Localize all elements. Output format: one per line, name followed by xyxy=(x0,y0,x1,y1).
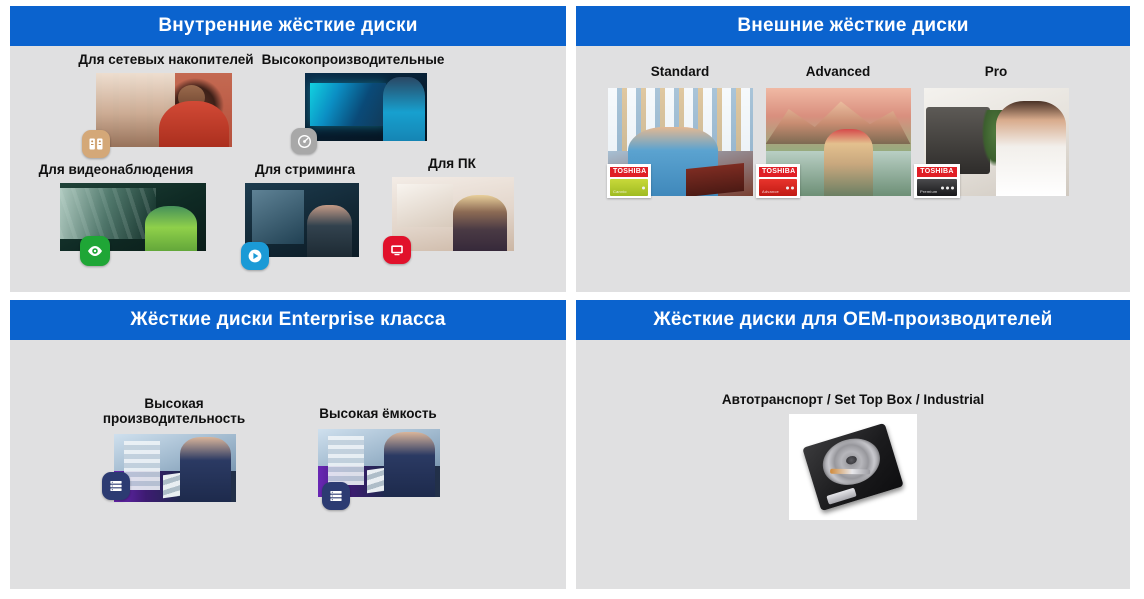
card-advanced[interactable]: Advanced TOSHIBA Advance xyxy=(758,64,918,196)
oem-drive-image xyxy=(789,414,917,520)
card-pc-label: Для ПК xyxy=(382,156,522,171)
card-streaming-label: Для стриминга xyxy=(225,162,385,177)
panel-oem-title: Жёсткие диски для OEM-производителей xyxy=(576,300,1130,340)
panel-enterprise-body: Высокая производительность Выс xyxy=(10,340,566,589)
card-high-capacity[interactable]: Высокая ёмкость xyxy=(298,406,458,497)
toshiba-logo: TOSHIBA xyxy=(917,167,957,177)
card-pro[interactable]: Pro TOSHIBA Premium xyxy=(916,64,1076,196)
panel-enterprise-drives: Жёсткие диски Enterprise класса Высокая … xyxy=(0,294,570,599)
product-box-standard: TOSHIBA Canvio xyxy=(607,164,651,198)
card-high-performance[interactable]: Высокая производительность xyxy=(94,396,254,502)
card-performance-thumb xyxy=(305,73,427,141)
product-overview-board: Внутренние жёсткие диски Для сетевых нак… xyxy=(0,0,1144,599)
panel-internal-drives: Внутренние жёсткие диски Для сетевых нак… xyxy=(0,0,570,294)
card-surveillance-label: Для видеонаблюдения xyxy=(18,162,214,177)
drive-advanced: Advance xyxy=(759,179,797,196)
card-performance[interactable]: Высокопроизводительные xyxy=(253,52,453,141)
card-performance-label: Высокопроизводительные xyxy=(253,52,453,67)
eye-icon xyxy=(80,236,110,266)
drive-pro: Premium xyxy=(917,179,957,196)
panel-oem-body: Автотранспорт / Set Top Box / Industrial xyxy=(576,340,1130,589)
speedometer-icon xyxy=(291,128,317,154)
panel-external-body: Standard TOSHIBA Canvio Advanced TOSHI xyxy=(576,46,1130,292)
toshiba-logo: TOSHIBA xyxy=(610,167,648,177)
panel-internal-title: Внутренние жёсткие диски xyxy=(10,6,566,46)
card-surveillance[interactable]: Для видеонаблюдения xyxy=(18,162,214,251)
nas-bays-icon xyxy=(82,130,110,158)
card-nas-thumb xyxy=(96,73,232,147)
card-standard-label: Standard xyxy=(600,64,760,79)
server-rack-icon xyxy=(102,472,130,500)
card-high-capacity-label: Высокая ёмкость xyxy=(298,406,458,421)
panel-internal-body: Для сетевых накопителей Высоко xyxy=(10,46,566,292)
card-advanced-label: Advanced xyxy=(758,64,918,79)
card-pc-thumb xyxy=(392,177,514,251)
product-box-pro: TOSHIBA Premium xyxy=(914,164,960,198)
panel-oem-drives: Жёсткие диски для OEM-производителей Авт… xyxy=(570,294,1144,599)
card-high-performance-label: Высокая производительность xyxy=(94,396,254,426)
panel-enterprise-title: Жёсткие диски Enterprise класса xyxy=(10,300,566,340)
monitor-icon xyxy=(383,236,411,264)
bare-hard-disk-drive xyxy=(802,423,904,511)
drive-standard: Canvio xyxy=(610,179,648,196)
card-oem-label: Автотранспорт / Set Top Box / Industrial xyxy=(576,392,1130,407)
card-streaming[interactable]: Для стриминга xyxy=(225,162,385,257)
card-pro-label: Pro xyxy=(916,64,1076,79)
product-box-advanced: TOSHIBA Advance xyxy=(756,164,800,198)
play-icon xyxy=(241,242,269,270)
card-oem[interactable]: Автотранспорт / Set Top Box / Industrial xyxy=(576,392,1130,407)
panel-external-drives: Внешние жёсткие диски Standard TOSHIBA C… xyxy=(570,0,1144,294)
card-standard[interactable]: Standard TOSHIBA Canvio xyxy=(600,64,760,196)
server-rack-icon xyxy=(322,482,350,510)
card-nas[interactable]: Для сетевых накопителей xyxy=(60,52,272,147)
toshiba-logo: TOSHIBA xyxy=(759,167,797,177)
card-high-performance-thumb xyxy=(114,434,236,502)
panel-external-title: Внешние жёсткие диски xyxy=(576,6,1130,46)
card-pc[interactable]: Для ПК xyxy=(382,156,522,251)
card-nas-label: Для сетевых накопителей xyxy=(60,52,272,67)
